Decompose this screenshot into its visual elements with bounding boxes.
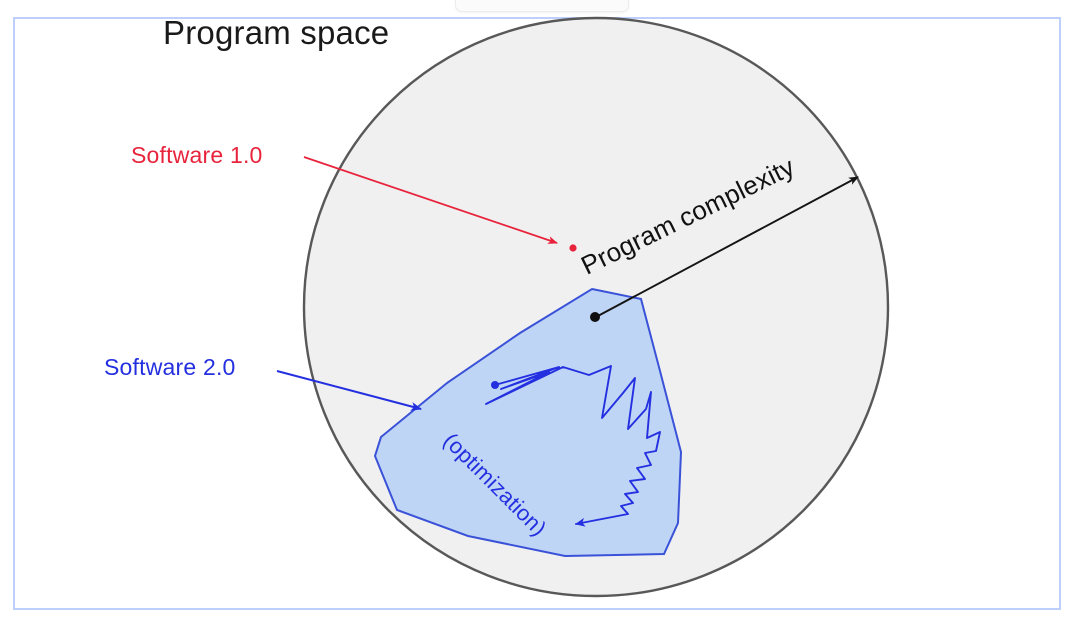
software-1-label: Software 1.0 bbox=[131, 142, 263, 169]
software-1-point-dot bbox=[569, 244, 576, 251]
optimization-start-dot bbox=[491, 381, 499, 389]
complexity-axis-origin-dot bbox=[590, 312, 600, 322]
page-title: Program space bbox=[163, 14, 389, 52]
figure-canvas: Program space Software 1.0 Software 2.0 … bbox=[0, 0, 1074, 621]
software-2-label: Software 2.0 bbox=[104, 354, 236, 381]
